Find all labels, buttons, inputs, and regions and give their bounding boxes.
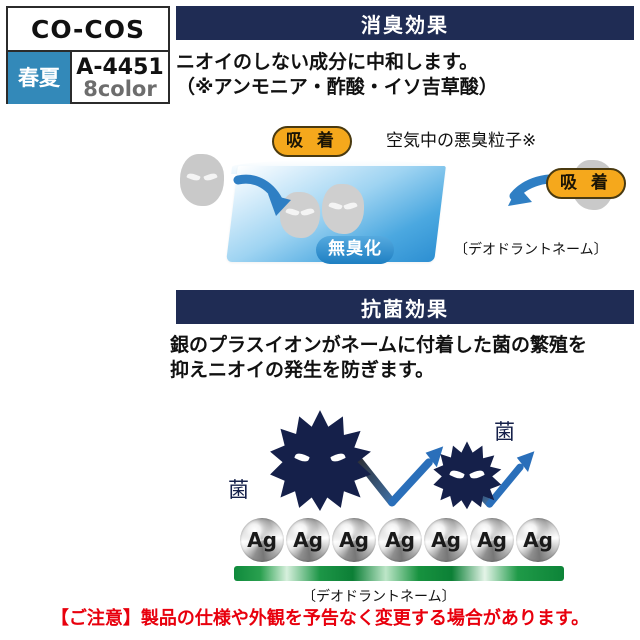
section-header-antibacterial-label: 抗菌効果 (361, 293, 449, 322)
caption-deodorant-name-2: 〔デオドラントネーム〕 (302, 586, 456, 606)
silver-ion-row: Ag Ag Ag Ag Ag Ag Ag (240, 518, 560, 562)
caption-deodorant-name-1: 〔デオドラントネーム〕 (454, 239, 608, 259)
product-code: A-4451 (76, 57, 163, 79)
disclaimer-notice: 【ご注意】製品の仕様や外観を予告なく変更する場合があります。 (0, 604, 640, 630)
antibacterial-line-2: 抑えニオイの発生を防ぎます。 (170, 358, 640, 383)
odor-particle-left-icon (180, 154, 224, 206)
antibacterial-line-1: 銀のプラスイオンがネームに付着した菌の繁殖を (170, 333, 640, 358)
section-body-antibacterial: 銀のプラスイオンがネームに付着した菌の繁殖を 抑えニオイの発生を防ぎます。 (170, 333, 640, 382)
arrow-outgoing-1-icon (392, 462, 429, 502)
odor-particle-absorbed-1-icon (280, 192, 320, 238)
brand-info-block: CO-COS 春夏 A-4451 8color (6, 6, 170, 104)
particle-eye-right (344, 201, 358, 211)
antibacterial-illustration: 菌 菌 Ag Ag Ag Ag Ag Ag Ag 〔デオドラントネーム〕 (176, 400, 640, 600)
silver-sphere: Ag (516, 518, 560, 562)
deodorizing-line-2: （※アンモニア・酢酸・イソ吉草酸） (176, 75, 634, 100)
particle-eye-left (286, 207, 300, 217)
silver-sphere: Ag (424, 518, 468, 562)
product-code-group: A-4451 8color (72, 52, 168, 104)
silver-sphere: Ag (332, 518, 376, 562)
bacteria-small-icon (432, 440, 502, 510)
season-badge: 春夏 (8, 52, 72, 104)
particle-eye-left (328, 201, 342, 211)
particle-eye-right (300, 207, 314, 217)
arrow-head-2-icon (517, 451, 535, 472)
badge-adsorption-left: 吸 着 (272, 126, 352, 157)
brand-logo-row: CO-COS (8, 8, 168, 52)
label-air-odor-particles: 空気中の悪臭粒子※ (386, 126, 536, 151)
deodorant-name-tape (234, 566, 564, 581)
particle-eye-left (186, 172, 200, 182)
deodorizing-line-1: ニオイのしない成分に中和します。 (176, 50, 634, 75)
season-label: 春夏 (18, 68, 60, 89)
arrow-right-head-icon (508, 186, 532, 206)
product-code-row: 春夏 A-4451 8color (8, 52, 168, 104)
particle-eye-right (203, 172, 217, 182)
section-body-deodorizing: ニオイのしない成分に中和します。 （※アンモニア・酢酸・イソ吉草酸） (176, 50, 634, 99)
section-header-deodorizing: 消臭効果 (176, 6, 634, 40)
bacteria-label-left: 菌 (228, 474, 249, 504)
color-count: 8color (83, 79, 156, 100)
badge-deodorized: 無臭化 (316, 236, 394, 264)
product-feature-panel: CO-COS 春夏 A-4451 8color 消臭効果 ニオイのしない成分に中… (0, 0, 640, 640)
bacteria-label-right: 菌 (494, 416, 515, 446)
brand-logo: CO-COS (31, 15, 145, 44)
section-header-antibacterial: 抗菌効果 (176, 290, 634, 324)
section-header-deodorizing-label: 消臭効果 (361, 9, 449, 38)
odor-particle-absorbed-2-icon (322, 184, 364, 234)
silver-sphere: Ag (240, 518, 284, 562)
badge-adsorption-right: 吸 着 (546, 168, 626, 199)
silver-sphere: Ag (286, 518, 330, 562)
silver-sphere: Ag (470, 518, 514, 562)
deodorizing-illustration: 吸 着 吸 着 無臭化 空気中の悪臭粒子※ 〔デオドラントネーム〕 (176, 120, 640, 280)
silver-sphere: Ag (378, 518, 422, 562)
bacteria-large-icon (268, 408, 372, 512)
